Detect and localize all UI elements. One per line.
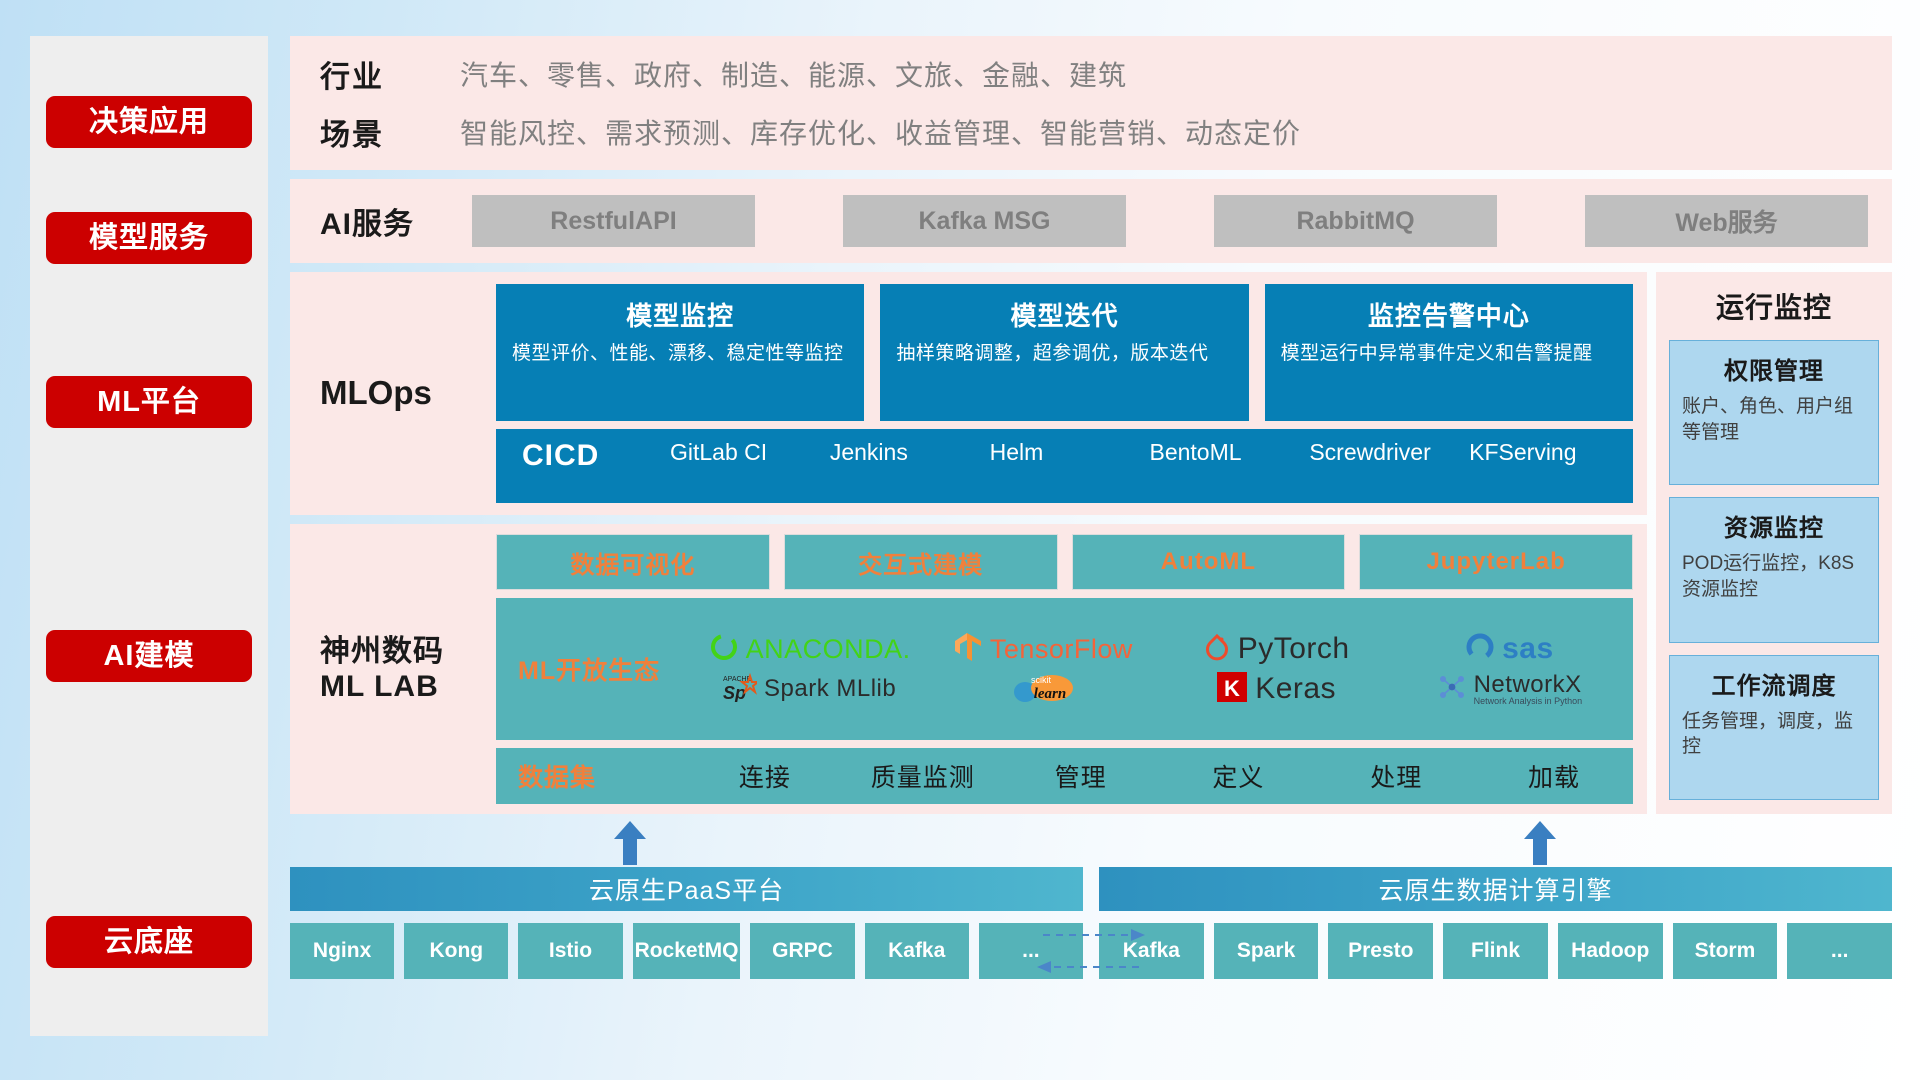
logo-pytorch: PyTorch xyxy=(1203,632,1350,666)
ml-lab-label: 神州数码 ML LAB xyxy=(320,634,496,705)
compute-chip-flink[interactable]: Flink xyxy=(1443,923,1548,979)
mlops-label: MLOps xyxy=(320,374,496,413)
ml-lab-label-line1: 神州数码 xyxy=(320,634,496,669)
layer-label-rail: 决策应用 模型服务 ML平台 AI建模 云底座 xyxy=(30,36,268,1036)
compute-chip-group: Kafka Spark Presto Flink Hadoop Storm ..… xyxy=(1099,923,1892,979)
mlops-card-title: 监控告警中心 xyxy=(1281,296,1617,333)
logo-sas: sas xyxy=(1465,632,1554,666)
logo-spark-mllib: APACHE Sp Spark MLlib xyxy=(723,672,896,706)
svg-text:scikit: scikit xyxy=(1031,675,1051,685)
cloud-base-band: 云原生PaaS平台 Nginx Kong Istio RocketMQ GRPC… xyxy=(290,823,1892,1036)
ecosystem-logo-grid: ANACONDA. TensorFlow xyxy=(696,630,1623,708)
paas-chip-rocketmq[interactable]: RocketMQ xyxy=(633,923,741,979)
dataset-item-define[interactable]: 定义 xyxy=(1159,758,1317,794)
networkx-subtitle: Network Analysis in Python xyxy=(1474,697,1583,706)
logo-text: Spark MLlib xyxy=(764,677,896,701)
dataset-item-connect[interactable]: 连接 xyxy=(686,758,844,794)
logo-text: Keras xyxy=(1255,674,1336,704)
mlops-card-alert-center[interactable]: 监控告警中心 模型运行中异常事件定义和告警提醒 xyxy=(1265,284,1633,421)
ml-lab-tool-interactive-modeling[interactable]: 交互式建模 xyxy=(784,534,1058,590)
dataset-item-quality[interactable]: 质量监测 xyxy=(844,758,1002,794)
dataset-item-load[interactable]: 加载 xyxy=(1475,758,1633,794)
paas-chip-istio[interactable]: Istio xyxy=(518,923,622,979)
industry-row: 行业 汽车、零售、政府、制造、能源、文旅、金融、建筑 xyxy=(320,52,1892,96)
logo-keras: K Keras xyxy=(1216,671,1336,707)
dataset-item-manage[interactable]: 管理 xyxy=(1002,758,1160,794)
sas-icon xyxy=(1465,632,1495,666)
ai-service-chip-rabbitmq[interactable]: RabbitMQ xyxy=(1214,195,1497,247)
cicd-item-helm[interactable]: Helm xyxy=(990,439,1144,466)
industry-value: 汽车、零售、政府、制造、能源、文旅、金融、建筑 xyxy=(460,54,1127,94)
ai-service-chip-web[interactable]: Web服务 xyxy=(1585,195,1868,247)
mlops-card-group: 模型监控 模型评价、性能、漂移、稳定性等监控 模型迭代 抽样策略调整，超参调优，… xyxy=(496,284,1633,421)
spark-icon: APACHE Sp xyxy=(723,672,757,706)
rail-chip-ml-platform[interactable]: ML平台 xyxy=(46,376,252,428)
ml-open-ecosystem-row: ML开放生态 ANACONDA. xyxy=(496,598,1633,740)
ml-open-ecosystem-label: ML开放生态 xyxy=(518,651,686,687)
mlops-card-desc: 抽样策略调整，超参调优，版本迭代 xyxy=(896,341,1232,367)
monitor-card-title: 工作流调度 xyxy=(1682,666,1866,701)
cicd-item-screwdriver[interactable]: Screwdriver xyxy=(1309,439,1463,466)
cicd-label: CICD xyxy=(522,439,664,473)
svg-text:Sp: Sp xyxy=(723,683,746,702)
platform-rows: MLOps 模型监控 模型评价、性能、漂移、稳定性等监控 模型迭代 抽样策略调整… xyxy=(290,272,1647,814)
runtime-monitor-title: 运行监控 xyxy=(1716,286,1832,326)
ml-lab-tool-data-visualization[interactable]: 数据可视化 xyxy=(496,534,770,590)
scikit-learn-icon: scikit learn xyxy=(1012,670,1074,708)
logo-text: ANACONDA. xyxy=(746,636,911,663)
cicd-item-kfserving[interactable]: KFServing xyxy=(1469,439,1623,466)
bidirectional-link-icon xyxy=(1037,923,1145,981)
logo-scikit-learn: scikit learn xyxy=(1012,670,1074,708)
paas-chip-nginx[interactable]: Nginx xyxy=(290,923,394,979)
pytorch-icon xyxy=(1203,632,1231,666)
logo-text: sas xyxy=(1502,634,1554,664)
dataset-label: 数据集 xyxy=(518,758,686,794)
ml-lab-body: 数据可视化 交互式建模 AutoML JupyterLab ML开放生态 xyxy=(496,534,1633,804)
compute-chip-hadoop[interactable]: Hadoop xyxy=(1558,923,1663,979)
data-compute-engine-group: 云原生数据计算引擎 Kafka Spark Presto Flink Hadoo… xyxy=(1099,867,1892,1036)
architecture-diagram: 决策应用 模型服务 ML平台 AI建模 云底座 行业 汽车、零售、政府、制造、能… xyxy=(30,36,1892,1036)
paas-platform-group: 云原生PaaS平台 Nginx Kong Istio RocketMQ GRPC… xyxy=(290,867,1083,1036)
cicd-item-bentoml[interactable]: BentoML xyxy=(1149,439,1303,466)
dataset-item-process[interactable]: 处理 xyxy=(1317,758,1475,794)
monitor-card-title: 资源监控 xyxy=(1682,508,1866,543)
mlops-band: MLOps 模型监控 模型评价、性能、漂移、稳定性等监控 模型迭代 抽样策略调整… xyxy=(290,272,1647,515)
mlops-body: 模型监控 模型评价、性能、漂移、稳定性等监控 模型迭代 抽样策略调整，超参调优，… xyxy=(496,284,1633,503)
rail-chip-decision-apps[interactable]: 决策应用 xyxy=(46,96,252,148)
logo-text: NetworkX xyxy=(1474,673,1583,697)
scenario-value: 智能风控、需求预测、库存优化、收益管理、智能营销、动态定价 xyxy=(460,112,1301,152)
mlops-card-model-monitoring[interactable]: 模型监控 模型评价、性能、漂移、稳定性等监控 xyxy=(496,284,864,421)
cicd-item-gitlab-ci[interactable]: GitLab CI xyxy=(670,439,824,466)
arrow-up-paas-icon xyxy=(610,821,650,865)
mlops-card-desc: 模型评价、性能、漂移、稳定性等监控 xyxy=(512,341,848,367)
anaconda-icon xyxy=(709,632,739,666)
ml-lab-tool-automl[interactable]: AutoML xyxy=(1072,534,1346,590)
decision-apps-band: 行业 汽车、零售、政府、制造、能源、文旅、金融、建筑 场景 智能风控、需求预测、… xyxy=(290,36,1892,170)
scenario-key: 场景 xyxy=(320,110,460,154)
ai-service-chip-group: RestfulAPI Kafka MSG RabbitMQ Web服务 xyxy=(460,195,1868,247)
paas-platform-bar[interactable]: 云原生PaaS平台 xyxy=(290,867,1083,911)
monitor-card-title: 权限管理 xyxy=(1682,351,1866,386)
compute-chip-spark[interactable]: Spark xyxy=(1214,923,1319,979)
arrow-up-compute-icon xyxy=(1520,821,1560,865)
runtime-monitor-column: 运行监控 权限管理 账户、角色、用户组等管理 资源监控 POD运行监控，K8S资… xyxy=(1656,272,1892,814)
monitor-card-permission[interactable]: 权限管理 账户、角色、用户组等管理 xyxy=(1669,340,1879,485)
data-compute-engine-bar[interactable]: 云原生数据计算引擎 xyxy=(1099,867,1892,911)
monitor-card-resource[interactable]: 资源监控 POD运行监控，K8S资源监控 xyxy=(1669,497,1879,642)
mlops-card-title: 模型迭代 xyxy=(896,296,1232,333)
mlops-card-title: 模型监控 xyxy=(512,296,848,333)
rail-chip-model-service[interactable]: 模型服务 xyxy=(46,212,252,264)
monitor-card-desc: POD运行监控，K8S资源监控 xyxy=(1682,551,1866,602)
paas-chip-group: Nginx Kong Istio RocketMQ GRPC Kafka ... xyxy=(290,923,1083,979)
logo-text: PyTorch xyxy=(1238,634,1350,664)
tensorflow-icon xyxy=(953,631,983,667)
monitor-card-desc: 任务管理，调度，监控 xyxy=(1682,709,1866,760)
ai-service-chip-restfulapi[interactable]: RestfulAPI xyxy=(472,195,755,247)
compute-chip-storm[interactable]: Storm xyxy=(1673,923,1778,979)
compute-chip-more[interactable]: ... xyxy=(1787,923,1892,979)
mlops-card-desc: 模型运行中异常事件定义和告警提醒 xyxy=(1281,341,1617,367)
logo-anaconda: ANACONDA. xyxy=(709,632,911,666)
monitor-card-workflow[interactable]: 工作流调度 任务管理，调度，监控 xyxy=(1669,655,1879,800)
ml-lab-label-line2: ML LAB xyxy=(320,669,496,704)
logo-networkx: NetworkX Network Analysis in Python xyxy=(1437,672,1583,706)
cicd-row: CICD GitLab CI Jenkins Helm BentoML Scre… xyxy=(496,429,1633,503)
main-stack: 行业 汽车、零售、政府、制造、能源、文旅、金融、建筑 场景 智能风控、需求预测、… xyxy=(290,36,1892,1036)
rail-chip-cloud-base[interactable]: 云底座 xyxy=(46,916,252,968)
svg-text:K: K xyxy=(1224,676,1240,701)
ml-lab-tool-jupyterlab[interactable]: JupyterLab xyxy=(1359,534,1633,590)
scenario-row: 场景 智能风控、需求预测、库存优化、收益管理、智能营销、动态定价 xyxy=(320,110,1892,154)
industry-key: 行业 xyxy=(320,52,460,96)
monitor-card-desc: 账户、角色、用户组等管理 xyxy=(1682,394,1866,445)
platform-and-monitor: MLOps 模型监控 模型评价、性能、漂移、稳定性等监控 模型迭代 抽样策略调整… xyxy=(290,272,1892,814)
logo-tensorflow: TensorFlow xyxy=(953,631,1133,667)
paas-chip-grpc[interactable]: GRPC xyxy=(750,923,854,979)
logo-text: TensorFlow xyxy=(990,636,1133,663)
cicd-item-jenkins[interactable]: Jenkins xyxy=(830,439,984,466)
rail-chip-ai-modeling[interactable]: AI建模 xyxy=(46,630,252,682)
ml-lab-band: 神州数码 ML LAB 数据可视化 交互式建模 AutoML JupyterLa… xyxy=(290,524,1647,814)
networkx-icon xyxy=(1437,672,1467,706)
ai-service-chip-kafka-msg[interactable]: Kafka MSG xyxy=(843,195,1126,247)
ai-service-title: AI服务 xyxy=(320,199,460,243)
paas-chip-kafka[interactable]: Kafka xyxy=(865,923,969,979)
dataset-item-group: 连接 质量监测 管理 定义 处理 加载 xyxy=(686,758,1633,794)
keras-icon: K xyxy=(1216,671,1248,707)
paas-chip-kong[interactable]: Kong xyxy=(404,923,508,979)
mlops-card-model-iteration[interactable]: 模型迭代 抽样策略调整，超参调优，版本迭代 xyxy=(880,284,1248,421)
dataset-row: 数据集 连接 质量监测 管理 定义 处理 加载 xyxy=(496,748,1633,804)
ai-service-band: AI服务 RestfulAPI Kafka MSG RabbitMQ Web服务 xyxy=(290,179,1892,263)
compute-chip-presto[interactable]: Presto xyxy=(1328,923,1433,979)
ml-lab-tool-group: 数据可视化 交互式建模 AutoML JupyterLab xyxy=(496,534,1633,590)
svg-text:learn: learn xyxy=(1034,686,1067,702)
